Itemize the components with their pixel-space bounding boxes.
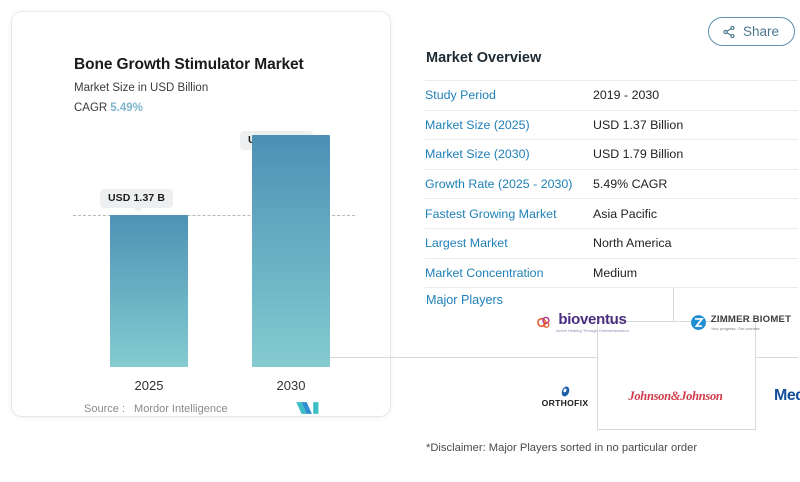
bar-2025[interactable]: [110, 215, 188, 367]
bar-label-2025: USD 1.37 B: [100, 189, 173, 208]
major-players-disclaimer: *Disclaimer: Major Players sorted in no …: [426, 442, 697, 454]
chart-title: Bone Growth Stimulator Market: [74, 56, 304, 74]
johnson-and-johnson-wordmark: Johnson&Johnson: [628, 389, 722, 404]
major-players-grid: bioventus Active Healing Through Osteost…: [425, 288, 798, 428]
source-value: Mordor Intelligence: [134, 403, 228, 415]
mordor-intelligence-logo-icon: [295, 400, 321, 416]
share-icon: [722, 25, 736, 39]
table-row: Market Size (2030) USD 1.79 Billion: [425, 140, 798, 170]
bioventus-wordmark: bioventus: [558, 311, 626, 328]
orthofix-wordmark: ORTHOFIX: [542, 398, 589, 408]
orthofix-mark-icon: [559, 385, 572, 398]
logo-bioventus[interactable]: bioventus Active Healing Through Osteost…: [520, 302, 645, 342]
row-label: Market Size (2030): [425, 147, 593, 161]
overview-table: Study Period 2019 - 2030 Market Size (20…: [425, 80, 798, 288]
row-value: 2019 - 2030: [593, 88, 659, 102]
zimmer-biomet-tagline: Your progress. Our promise.: [711, 326, 761, 331]
row-label: Fastest Growing Market: [425, 207, 593, 221]
bioventus-mark-icon: [536, 314, 553, 331]
row-value: Medium: [593, 266, 637, 280]
row-label: Study Period: [425, 88, 593, 102]
row-value: North America: [593, 236, 672, 250]
chart-subtitle: Market Size in USD Billion: [74, 82, 208, 94]
zimmer-biomet-wordmark: ZIMMER BIOMET: [711, 314, 791, 325]
medtronic-wordmark: Medtronic: [774, 387, 800, 405]
cagr-label: CAGR: [74, 102, 107, 114]
cagr-value: 5.49%: [110, 102, 143, 114]
table-row: Market Concentration Medium: [425, 259, 798, 289]
overview-panel: Share Market Overview Study Period 2019 …: [415, 0, 800, 482]
zimmer-biomet-mark-icon: [690, 314, 707, 331]
overview-title: Market Overview: [426, 50, 541, 66]
x-tick-2025: 2025: [94, 378, 204, 393]
row-value: Asia Pacific: [593, 207, 657, 221]
row-label: Largest Market: [425, 236, 593, 250]
bar-chart-plot: USD 1.37 B USD 1.79 B 2025 2030: [74, 132, 354, 372]
row-label: Market Size (2025): [425, 118, 593, 132]
row-value: 5.49% CAGR: [593, 177, 667, 191]
row-value: USD 1.37 Billion: [593, 118, 683, 132]
logo-medtronic[interactable]: Medtronic: [755, 376, 800, 416]
table-row: Market Size (2025) USD 1.37 Billion: [425, 111, 798, 141]
chart-card: Bone Growth Stimulator Market Market Siz…: [12, 12, 390, 416]
table-row: Largest Market North America: [425, 229, 798, 259]
source-label: Source :: [84, 403, 125, 415]
page-root: Bone Growth Stimulator Market Market Siz…: [0, 0, 800, 482]
logo-johnson-and-johnson[interactable]: Johnson&Johnson: [597, 376, 754, 416]
table-row: Fastest Growing Market Asia Pacific: [425, 199, 798, 229]
logo-zimmer-biomet[interactable]: ZIMMER BIOMET Your progress. Our promise…: [673, 302, 800, 342]
share-button-label: Share: [743, 24, 779, 39]
x-tick-2030: 2030: [236, 378, 346, 393]
table-row: Study Period 2019 - 2030: [425, 80, 798, 111]
row-label: Market Concentration: [425, 266, 593, 280]
chart-cagr: CAGR5.49%: [74, 102, 143, 114]
table-row: Growth Rate (2025 - 2030) 5.49% CAGR: [425, 170, 798, 200]
chart-source: Source : Mordor Intelligence: [84, 403, 228, 415]
bar-2030[interactable]: [252, 135, 330, 367]
bioventus-tagline: Active Healing Through Osteostimulation: [556, 329, 629, 333]
row-value: USD 1.79 Billion: [593, 147, 683, 161]
row-label: Growth Rate (2025 - 2030): [425, 177, 593, 191]
share-button[interactable]: Share: [708, 17, 795, 46]
